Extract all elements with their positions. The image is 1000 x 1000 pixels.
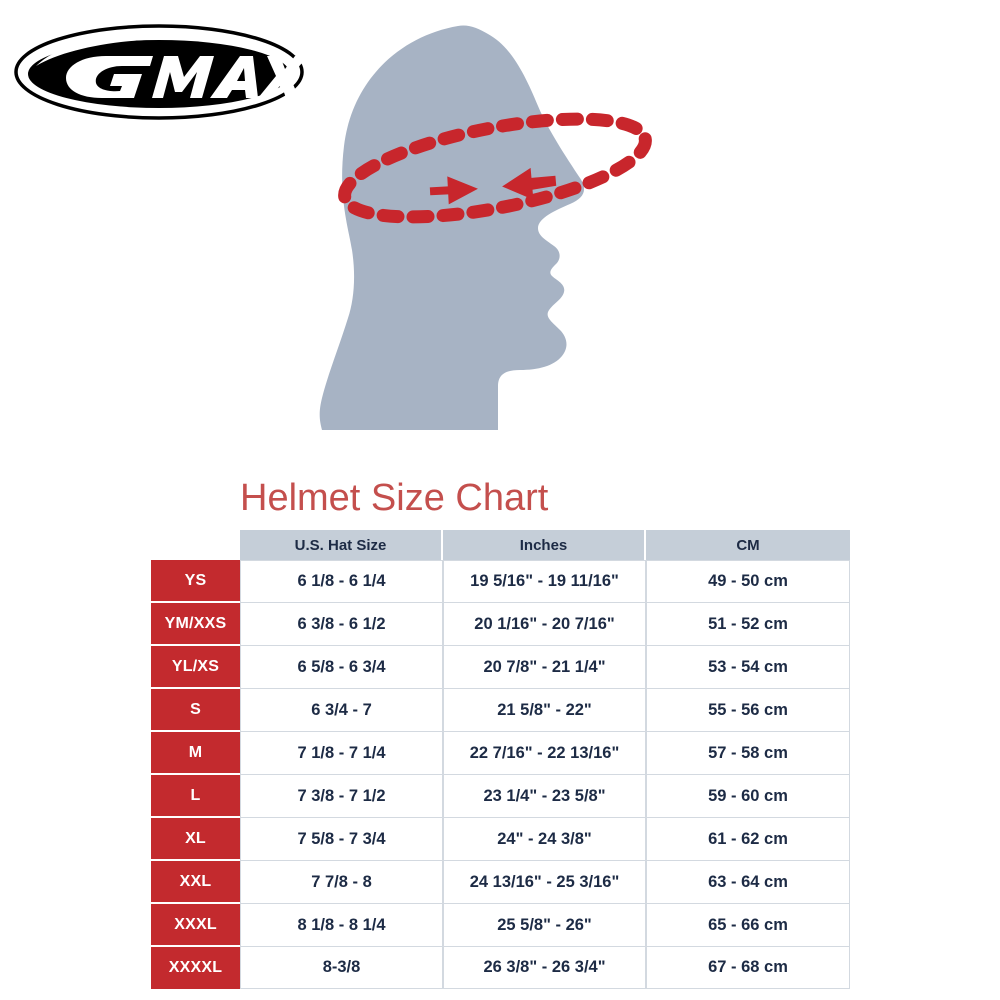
cm-value: 49 - 50 cm	[646, 560, 850, 603]
inches-value: 22 7/16" - 22 13/16"	[443, 732, 646, 775]
size-label: YM/XXS	[151, 603, 240, 646]
cm-value: 63 - 64 cm	[646, 861, 850, 904]
hat-size-value: 8-3/8	[240, 947, 443, 989]
cm-value: 53 - 54 cm	[646, 646, 850, 689]
cm-value: 57 - 58 cm	[646, 732, 850, 775]
cm-value: 65 - 66 cm	[646, 904, 850, 947]
table-header-row: U.S. Hat Size Inches CM	[151, 530, 850, 560]
inches-value: 23 1/4" - 23 5/8"	[443, 775, 646, 818]
page-title: Helmet Size Chart	[240, 477, 548, 520]
inches-value: 20 7/8" - 21 1/4"	[443, 646, 646, 689]
hat-size-value: 6 5/8 - 6 3/4	[240, 646, 443, 689]
table-header-hat-size: U.S. Hat Size	[240, 530, 443, 560]
table-row: XXXXL 8-3/8 26 3/8" - 26 3/4" 67 - 68 cm	[151, 947, 850, 989]
helmet-size-table: U.S. Hat Size Inches CM YS 6 1/8 - 6 1/4…	[151, 530, 850, 989]
hat-size-value: 6 1/8 - 6 1/4	[240, 560, 443, 603]
size-label: YS	[151, 560, 240, 603]
inches-value: 26 3/8" - 26 3/4"	[443, 947, 646, 989]
table-header-inches: Inches	[443, 530, 646, 560]
hat-size-value: 7 1/8 - 7 1/4	[240, 732, 443, 775]
table-row: XL 7 5/8 - 7 3/4 24" - 24 3/8" 61 - 62 c…	[151, 818, 850, 861]
cm-value: 51 - 52 cm	[646, 603, 850, 646]
table-row: YM/XXS 6 3/8 - 6 1/2 20 1/16" - 20 7/16"…	[151, 603, 850, 646]
size-label: XXXL	[151, 904, 240, 947]
table-row: M 7 1/8 - 7 1/4 22 7/16" - 22 13/16" 57 …	[151, 732, 850, 775]
head-measurement-illustration	[280, 18, 730, 438]
table-header: U.S. Hat Size Inches CM	[151, 530, 850, 560]
size-label: XL	[151, 818, 240, 861]
size-label: S	[151, 689, 240, 732]
hat-size-value: 6 3/8 - 6 1/2	[240, 603, 443, 646]
size-label: L	[151, 775, 240, 818]
table-header-cm: CM	[646, 530, 850, 560]
table-row: S 6 3/4 - 7 21 5/8" - 22" 55 - 56 cm	[151, 689, 850, 732]
inches-value: 20 1/16" - 20 7/16"	[443, 603, 646, 646]
table-row: L 7 3/8 - 7 1/2 23 1/4" - 23 5/8" 59 - 6…	[151, 775, 850, 818]
cm-value: 61 - 62 cm	[646, 818, 850, 861]
size-label: YL/XS	[151, 646, 240, 689]
inches-value: 25 5/8" - 26"	[443, 904, 646, 947]
hat-size-value: 6 3/4 - 7	[240, 689, 443, 732]
inches-value: 24" - 24 3/8"	[443, 818, 646, 861]
table-row: YS 6 1/8 - 6 1/4 19 5/16" - 19 11/16" 49…	[151, 560, 850, 603]
hat-size-value: 8 1/8 - 8 1/4	[240, 904, 443, 947]
cm-value: 55 - 56 cm	[646, 689, 850, 732]
cm-value: 67 - 68 cm	[646, 947, 850, 989]
table-body: YS 6 1/8 - 6 1/4 19 5/16" - 19 11/16" 49…	[151, 560, 850, 989]
hat-size-value: 7 5/8 - 7 3/4	[240, 818, 443, 861]
gmax-logo	[14, 22, 304, 122]
table-row: XXXL 8 1/8 - 8 1/4 25 5/8" - 26" 65 - 66…	[151, 904, 850, 947]
table-header-corner	[151, 530, 240, 560]
table-row: XXL 7 7/8 - 8 24 13/16" - 25 3/16" 63 - …	[151, 861, 850, 904]
size-label: M	[151, 732, 240, 775]
size-label: XXXXL	[151, 947, 240, 989]
inches-value: 19 5/16" - 19 11/16"	[443, 560, 646, 603]
gmax-logo-icon	[14, 22, 304, 122]
cm-value: 59 - 60 cm	[646, 775, 850, 818]
size-label: XXL	[151, 861, 240, 904]
inches-value: 24 13/16" - 25 3/16"	[443, 861, 646, 904]
hat-size-value: 7 7/8 - 8	[240, 861, 443, 904]
head-profile-icon	[280, 18, 730, 438]
hat-size-value: 7 3/8 - 7 1/2	[240, 775, 443, 818]
table-row: YL/XS 6 5/8 - 6 3/4 20 7/8" - 21 1/4" 53…	[151, 646, 850, 689]
inches-value: 21 5/8" - 22"	[443, 689, 646, 732]
